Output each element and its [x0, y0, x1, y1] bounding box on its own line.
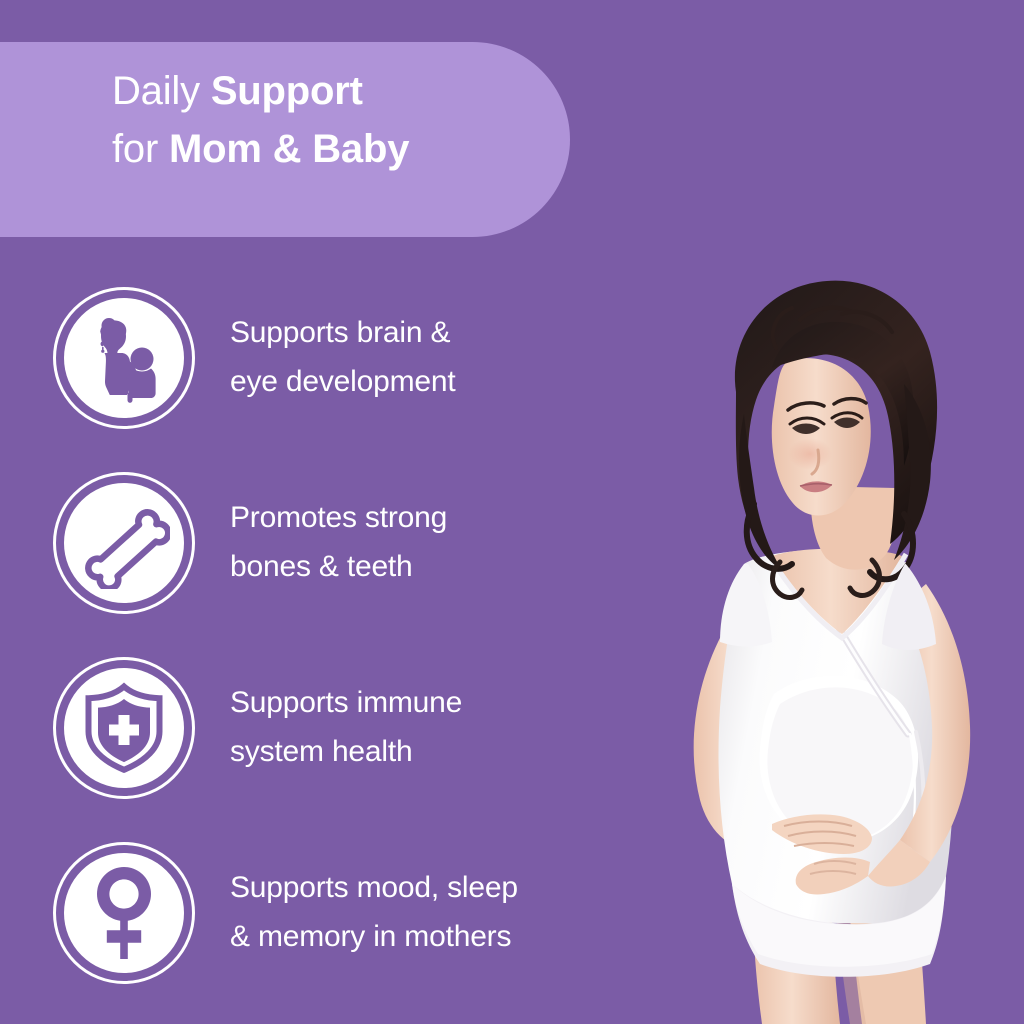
mother-and-baby-icon: [64, 298, 184, 418]
benefit-text-line-1: Supports mood, sleep: [230, 864, 518, 913]
benefit-text: Supports brain & eye development: [230, 309, 456, 406]
benefit-text: Supports immune system health: [230, 679, 462, 776]
benefit-row: Supports brain & eye development: [0, 281, 620, 434]
benefit-text-line-2: system health: [230, 728, 462, 777]
icon-badge: [53, 842, 195, 984]
icon-badge: [53, 472, 195, 614]
page-title: Daily Support for Mom & Baby: [112, 62, 572, 178]
benefit-text-line-1: Supports brain &: [230, 309, 456, 358]
icon-badge: [53, 287, 195, 429]
benefit-row: Supports immune system health: [0, 651, 620, 804]
promo-poster: Daily Support for Mom & Baby: [0, 0, 1024, 1024]
benefit-list: Supports brain & eye development Promote…: [0, 281, 620, 989]
benefit-row: Promotes strong bones & teeth: [0, 466, 620, 619]
benefit-row: Supports mood, sleep & memory in mothers: [0, 836, 620, 989]
benefit-text: Supports mood, sleep & memory in mothers: [230, 864, 518, 961]
headline-line-1-bold: Support: [211, 69, 363, 113]
female-symbol-icon: [64, 853, 184, 973]
benefit-text-line-2: eye development: [230, 358, 456, 407]
icon-badge: [53, 657, 195, 799]
benefit-text: Promotes strong bones & teeth: [230, 494, 447, 591]
headline-line-2-bold: Mom & Baby: [169, 127, 409, 171]
benefit-text-line-2: & memory in mothers: [230, 913, 518, 962]
shield-cross-icon: [64, 668, 184, 788]
headline-line-2: for Mom & Baby: [112, 120, 572, 178]
headline-line-1: Daily Support: [112, 62, 572, 120]
headline-line-2-light: for: [112, 127, 169, 171]
benefit-text-line-2: bones & teeth: [230, 543, 447, 592]
headline-line-1-light: Daily: [112, 69, 211, 113]
pregnant-woman-photo: [604, 264, 1024, 1024]
benefit-text-line-1: Promotes strong: [230, 494, 447, 543]
bone-icon: [64, 483, 184, 603]
benefit-text-line-1: Supports immune: [230, 679, 462, 728]
